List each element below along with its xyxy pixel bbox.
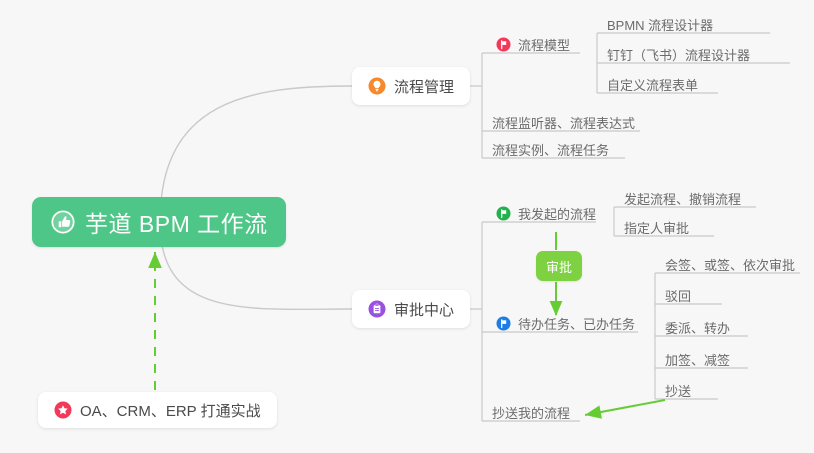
mindmap-canvas: 芋道 BPM 工作流 流程管理 审批中心 bbox=[0, 0, 814, 453]
root-node-label: 芋道 BPM 工作流 bbox=[85, 205, 268, 239]
lightbulb-icon bbox=[368, 77, 386, 95]
node-custom-form-label: 自定义流程表单 bbox=[607, 79, 698, 92]
star-icon bbox=[54, 401, 72, 419]
node-todo-done-tasks[interactable]: 待办任务、已办任务 bbox=[492, 312, 639, 334]
node-custom-form[interactable]: 自定义流程表单 bbox=[603, 73, 702, 95]
node-process-listener-label: 流程监听器、流程表达式 bbox=[492, 117, 635, 130]
node-countersign-modes-label: 会签、或签、依次审批 bbox=[665, 259, 795, 272]
node-add-remove-sign[interactable]: 加签、减签 bbox=[661, 348, 734, 370]
node-countersign-modes[interactable]: 会签、或签、依次审批 bbox=[661, 253, 799, 275]
node-bpmn-designer[interactable]: BPMN 流程设计器 bbox=[603, 13, 717, 35]
node-add-remove-sign-label: 加签、减签 bbox=[665, 354, 730, 367]
node-dingtalk-designer-label: 钉钉（飞书）流程设计器 bbox=[607, 49, 750, 62]
node-cc-to-me-processes[interactable]: 抄送我的流程 bbox=[488, 401, 574, 423]
thumbs-up-icon bbox=[50, 209, 76, 235]
branch-node-approval-center[interactable]: 审批中心 bbox=[352, 290, 470, 328]
node-process-listener[interactable]: 流程监听器、流程表达式 bbox=[488, 111, 639, 133]
node-start-cancel-process-label: 发起流程、撤销流程 bbox=[624, 193, 741, 206]
tag-node-approval-label: 审批 bbox=[546, 257, 572, 276]
root-node[interactable]: 芋道 BPM 工作流 bbox=[32, 197, 286, 247]
flag-icon bbox=[496, 316, 511, 331]
node-process-instance[interactable]: 流程实例、流程任务 bbox=[488, 138, 613, 160]
clipboard-icon bbox=[368, 300, 386, 318]
note-node-integration[interactable]: OA、CRM、ERP 打通实战 bbox=[38, 392, 277, 428]
node-dingtalk-designer[interactable]: 钉钉（飞书）流程设计器 bbox=[603, 43, 754, 65]
note-node-integration-label: OA、CRM、ERP 打通实战 bbox=[80, 400, 261, 421]
node-assign-approver[interactable]: 指定人审批 bbox=[620, 216, 693, 238]
node-process-model[interactable]: 流程模型 bbox=[492, 33, 574, 55]
branch-node-process-management[interactable]: 流程管理 bbox=[352, 67, 470, 105]
flag-icon bbox=[496, 37, 511, 52]
node-cc-label: 抄送 bbox=[665, 385, 691, 398]
node-start-cancel-process[interactable]: 发起流程、撤销流程 bbox=[620, 187, 745, 209]
flag-icon bbox=[496, 206, 511, 221]
node-cc[interactable]: 抄送 bbox=[661, 379, 695, 401]
node-reject-label: 驳回 bbox=[665, 290, 691, 303]
node-delegate-transfer[interactable]: 委派、转办 bbox=[661, 316, 734, 338]
node-todo-done-tasks-label: 待办任务、已办任务 bbox=[518, 318, 635, 331]
node-assign-approver-label: 指定人审批 bbox=[624, 222, 689, 235]
node-cc-to-me-processes-label: 抄送我的流程 bbox=[492, 407, 570, 420]
node-reject[interactable]: 驳回 bbox=[661, 284, 695, 306]
node-my-initiated-processes[interactable]: 我发起的流程 bbox=[492, 202, 600, 224]
cc-flow-arrow bbox=[585, 400, 665, 415]
node-delegate-transfer-label: 委派、转办 bbox=[665, 322, 730, 335]
node-my-initiated-processes-label: 我发起的流程 bbox=[518, 208, 596, 221]
node-bpmn-designer-label: BPMN 流程设计器 bbox=[607, 19, 713, 32]
node-process-model-label: 流程模型 bbox=[518, 39, 570, 52]
branch-node-approval-center-label: 审批中心 bbox=[394, 299, 454, 320]
node-process-instance-label: 流程实例、流程任务 bbox=[492, 144, 609, 157]
tag-node-approval[interactable]: 审批 bbox=[536, 251, 582, 281]
branch-node-process-management-label: 流程管理 bbox=[394, 76, 454, 97]
